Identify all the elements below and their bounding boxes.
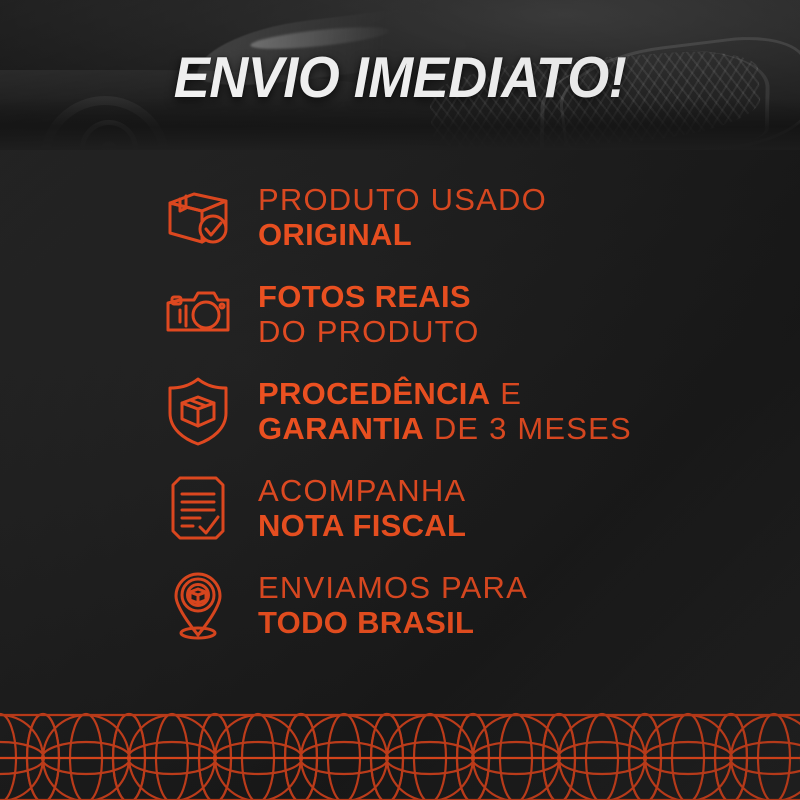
camera-icon [160,276,236,352]
box-check-icon [160,179,236,255]
hero-section: ENVIO IMEDIATO! [0,0,800,150]
feature-list: PRODUTO USADO ORIGINAL FOTOS REAIS DO PR… [0,168,800,688]
feature-row-todo-brasil: ENVIAMOS PARA TODO BRASIL [160,556,800,653]
feature-line-1-bold: PROCEDÊNCIA [258,376,490,411]
feature-line-2: TODO BRASIL [258,605,474,640]
feature-line-2: DO PRODUTO [258,314,480,349]
feature-line-1: FOTOS REAIS [258,279,471,314]
feature-text-todo-brasil: ENVIAMOS PARA TODO BRASIL [258,572,528,638]
feature-row-nota-fiscal: ACOMPANHA NOTA FISCAL [160,459,800,556]
feature-text-fotos-reais: FOTOS REAIS DO PRODUTO [258,281,480,347]
feature-line-1: ENVIAMOS PARA [258,570,528,605]
feature-text-produto-usado: PRODUTO USADO ORIGINAL [258,184,547,250]
location-pin-box-icon [160,567,236,643]
invoice-document-icon [160,470,236,546]
hero-title-wrapper: ENVIO IMEDIATO! [0,0,800,150]
feature-text-nota-fiscal: ACOMPANHA NOTA FISCAL [258,475,466,541]
footer-ornament-pattern [0,688,800,800]
feature-line-2: NOTA FISCAL [258,508,466,543]
feature-line-2-light: DE 3 MESES [424,411,632,446]
feature-line-1: PRODUTO USADO [258,182,547,217]
feature-line-1: ACOMPANHA [258,473,466,508]
feature-row-fotos-reais: FOTOS REAIS DO PRODUTO [160,265,800,362]
feature-text-procedencia-garantia: PROCEDÊNCIA E GARANTIA DE 3 MESES [258,378,632,444]
feature-line-2-bold: GARANTIA [258,411,424,446]
promotional-banner: ENVIO IMEDIATO! PRODUTO USADO ORIGINAL [0,0,800,800]
feature-line-1-light: E [490,376,522,411]
page-title: ENVIO IMEDIATO! [174,45,627,111]
feature-row-produto-usado: PRODUTO USADO ORIGINAL [160,168,800,265]
feature-line-2: ORIGINAL [258,217,412,252]
feature-row-procedencia-garantia: PROCEDÊNCIA E GARANTIA DE 3 MESES [160,362,800,459]
shield-box-icon [160,373,236,449]
